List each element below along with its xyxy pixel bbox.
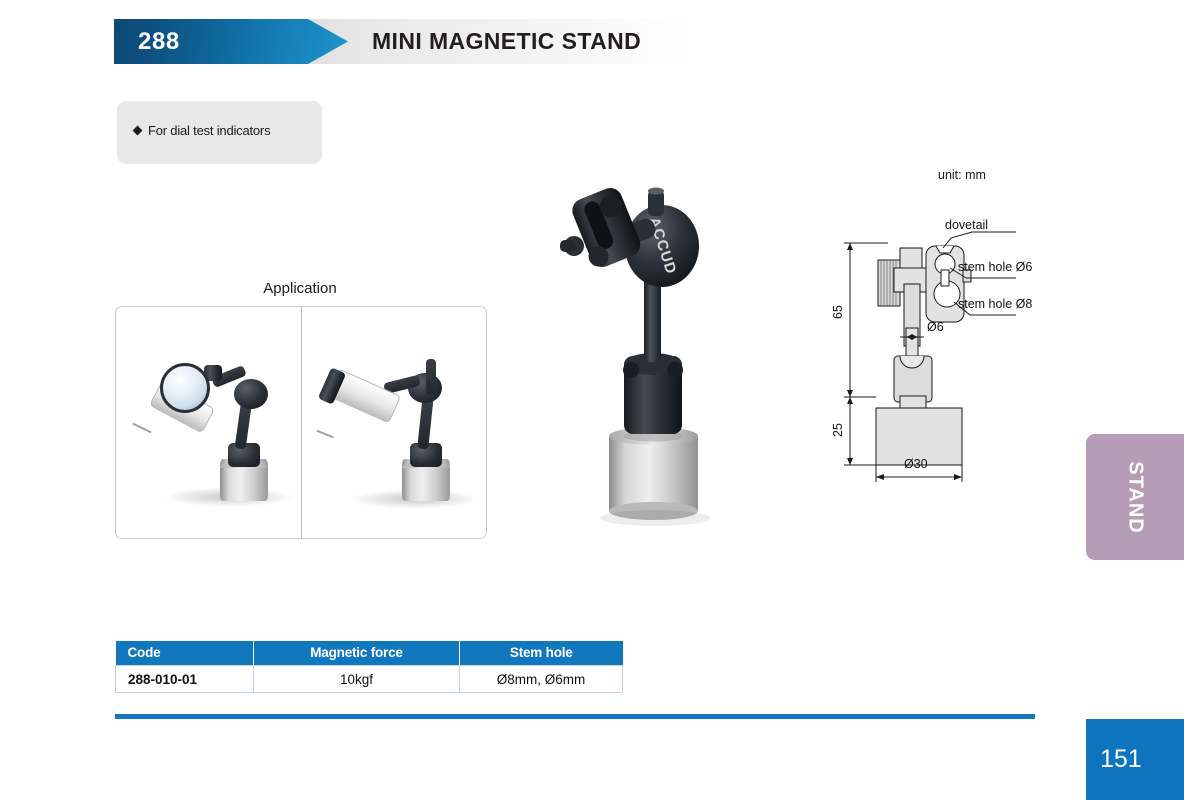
dimension-drawing-svg [820, 160, 1070, 490]
side-tab-label-wrap: STAND [1086, 434, 1184, 560]
cell-magnetic-force: 10kgf [254, 666, 460, 693]
column-header-stem-hole: Stem hole [460, 641, 623, 666]
column-header-magnetic-force: Magnetic force [254, 641, 460, 666]
application-photo-panel [115, 306, 487, 539]
footer-divider [115, 714, 1035, 719]
photo-vertical-rod [426, 359, 436, 395]
callout-stem-hole-8: stem hole Ø8 [958, 297, 1032, 311]
specification-table: Code Magnetic force Stem hole 288-010-01… [115, 641, 623, 693]
dimension-drawing: unit: mm [820, 160, 1070, 490]
photo-stylus [133, 423, 152, 434]
table-header-row: Code Magnetic force Stem hole [116, 641, 623, 666]
product-photo: ACCUD [552, 168, 780, 533]
application-photo-left [116, 307, 301, 538]
dimension-stem-dia-6: Ø6 [927, 320, 944, 334]
table-row[interactable]: 288-010-01 10kgf Ø8mm, Ø6mm [116, 666, 623, 693]
cell-stem-hole: Ø8mm, Ø6mm [460, 666, 623, 693]
page-header: 288 MINI MAGNETIC STAND [114, 19, 691, 64]
cell-code: 288-010-01 [116, 666, 254, 693]
feature-item-label: For dial test indicators [148, 123, 270, 138]
dimension-25: 25 [831, 423, 845, 437]
dimension-65: 65 [831, 305, 845, 319]
feature-box: For dial test indicators [117, 101, 322, 164]
application-section-title: Application [115, 280, 485, 297]
photo-stylus [316, 430, 333, 439]
dimension-base-dia-30: Ø30 [904, 457, 928, 471]
side-tab-label: STAND [1124, 461, 1147, 533]
callout-dovetail: dovetail [945, 218, 988, 232]
feature-item: For dial test indicators [134, 123, 270, 138]
callout-stem-hole-6: stem hole Ø6 [958, 260, 1032, 274]
photo-brand-knob [234, 379, 268, 409]
page-number-badge: 151 [1086, 719, 1184, 800]
header-series-code: 288 [138, 19, 180, 64]
side-tab-stand[interactable]: STAND [1086, 434, 1184, 560]
application-photo-right [301, 307, 487, 538]
product-photo-svg: ACCUD [552, 168, 780, 533]
page-title: MINI MAGNETIC STAND [372, 19, 641, 64]
unit-label: unit: mm [938, 168, 986, 182]
column-header-code: Code [116, 641, 254, 666]
diamond-bullet-icon [133, 126, 143, 136]
photo-indicator-dial [160, 363, 210, 413]
